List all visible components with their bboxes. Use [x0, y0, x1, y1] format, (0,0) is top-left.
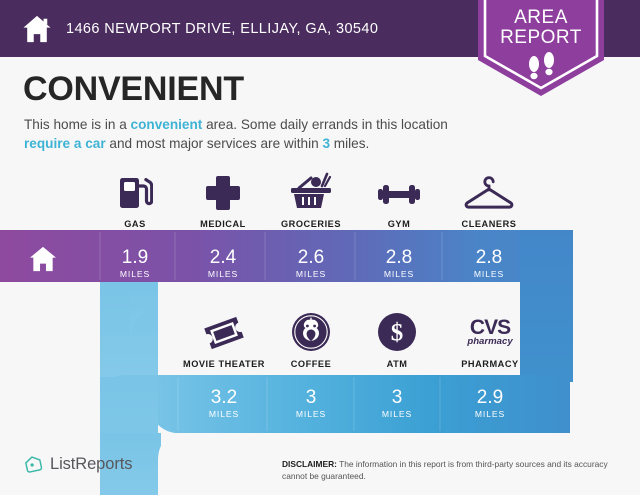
category-atm[interactable]: $ ATM [362, 308, 432, 369]
svg-text:$: $ [391, 320, 404, 347]
miles-value: 2.9 [452, 388, 528, 408]
miles-unit: MILES [362, 409, 432, 419]
dollar-circle-icon: $ [362, 308, 432, 352]
svg-text:pharmacy: pharmacy [466, 336, 513, 347]
miles-movie-theater: 3.2 MILES [184, 388, 264, 419]
miles-unit: MILES [276, 409, 346, 419]
category-label: MOVIE THEATER [180, 359, 268, 369]
subtitle-highlight-require-a-car: require a car [24, 136, 106, 151]
badge-line-2: REPORT [476, 28, 606, 48]
house-icon [28, 246, 58, 272]
category-label: GYM [362, 219, 436, 229]
gas-pump-icon [98, 168, 172, 212]
footprints-icon [526, 52, 558, 82]
category-label: GROCERIES [272, 219, 350, 229]
category-pharmacy[interactable]: CVS pharmacy PHARMACY [446, 308, 534, 369]
miles-unit: MILES [452, 269, 526, 279]
badge-line-1: AREA [476, 8, 606, 28]
area-report-badge: AREA REPORT [476, 0, 606, 98]
miles-cleaners: 2.8 MILES [452, 248, 526, 279]
miles-unit: MILES [274, 269, 348, 279]
miles-value: 1.9 [98, 248, 172, 268]
miles-medical: 2.4 MILES [186, 248, 260, 279]
subtitle-highlight-convenient: convenient [131, 117, 203, 132]
miles-unit: MILES [98, 269, 172, 279]
listreports-logo-icon [24, 455, 43, 474]
miles-value: 2.4 [186, 248, 260, 268]
miles-unit: MILES [362, 269, 436, 279]
medical-cross-icon [186, 168, 260, 212]
category-medical[interactable]: MEDICAL [186, 168, 260, 229]
category-label: ATM [362, 359, 432, 369]
miles-value: 2.6 [274, 248, 348, 268]
movie-ticket-icon [180, 308, 268, 352]
subtitle-highlight-miles: 3 [322, 136, 330, 151]
miles-gym: 2.8 MILES [362, 248, 436, 279]
starbucks-logo-icon [276, 308, 346, 352]
category-gas[interactable]: GAS [98, 168, 172, 229]
miles-coffee: 3 MILES [276, 388, 346, 419]
subtitle-part-1: This home is in a [24, 117, 131, 132]
badge-title: AREA REPORT [476, 8, 606, 48]
category-label: MEDICAL [186, 219, 260, 229]
house-icon [22, 15, 52, 43]
miles-gas: 1.9 MILES [98, 248, 172, 279]
subtitle-part-4: miles. [330, 136, 369, 151]
category-movie-theater[interactable]: MOVIE THEATER [180, 308, 268, 369]
category-groceries[interactable]: GROCERIES [272, 168, 350, 229]
miles-value: 3 [276, 388, 346, 408]
category-label: COFFEE [276, 359, 346, 369]
miles-value: 3 [362, 388, 432, 408]
dumbbell-icon [362, 168, 436, 212]
clothes-hanger-icon [450, 168, 528, 212]
listreports-logo-text: ListReports [50, 455, 132, 474]
subtitle-part-3: and most major services are within [106, 136, 323, 151]
category-cleaners[interactable]: CLEANERS [450, 168, 528, 229]
category-coffee[interactable]: COFFEE [276, 308, 346, 369]
page-title: CONVENIENT [23, 70, 244, 108]
grocery-basket-icon [272, 168, 350, 212]
category-gym[interactable]: GYM [362, 168, 436, 229]
miles-groceries: 2.6 MILES [274, 248, 348, 279]
miles-unit: MILES [184, 409, 264, 419]
miles-unit: MILES [452, 409, 528, 419]
disclaimer: DISCLAIMER: The information in this repo… [282, 458, 612, 482]
miles-pharmacy: 2.9 MILES [452, 388, 528, 419]
category-label: PHARMACY [446, 359, 534, 369]
disclaimer-label: DISCLAIMER: [282, 459, 337, 469]
page-subtitle: This home is in a convenient area. Some … [24, 115, 464, 153]
category-label: GAS [98, 219, 172, 229]
miles-value: 2.8 [452, 248, 526, 268]
miles-value: 3.2 [184, 388, 264, 408]
subtitle-part-2: area. Some daily errands in this locatio… [202, 117, 448, 132]
category-label: CLEANERS [450, 219, 528, 229]
area-report-page: 1466 NEWPORT DRIVE, ELLIJAY, GA, 30540 A… [0, 0, 640, 495]
miles-value: 2.8 [362, 248, 436, 268]
miles-unit: MILES [186, 269, 260, 279]
cvs-pharmacy-logo-icon: CVS pharmacy [446, 308, 534, 352]
miles-atm: 3 MILES [362, 388, 432, 419]
property-address: 1466 NEWPORT DRIVE, ELLIJAY, GA, 30540 [66, 21, 378, 37]
listreports-logo[interactable]: ListReports [24, 455, 132, 474]
